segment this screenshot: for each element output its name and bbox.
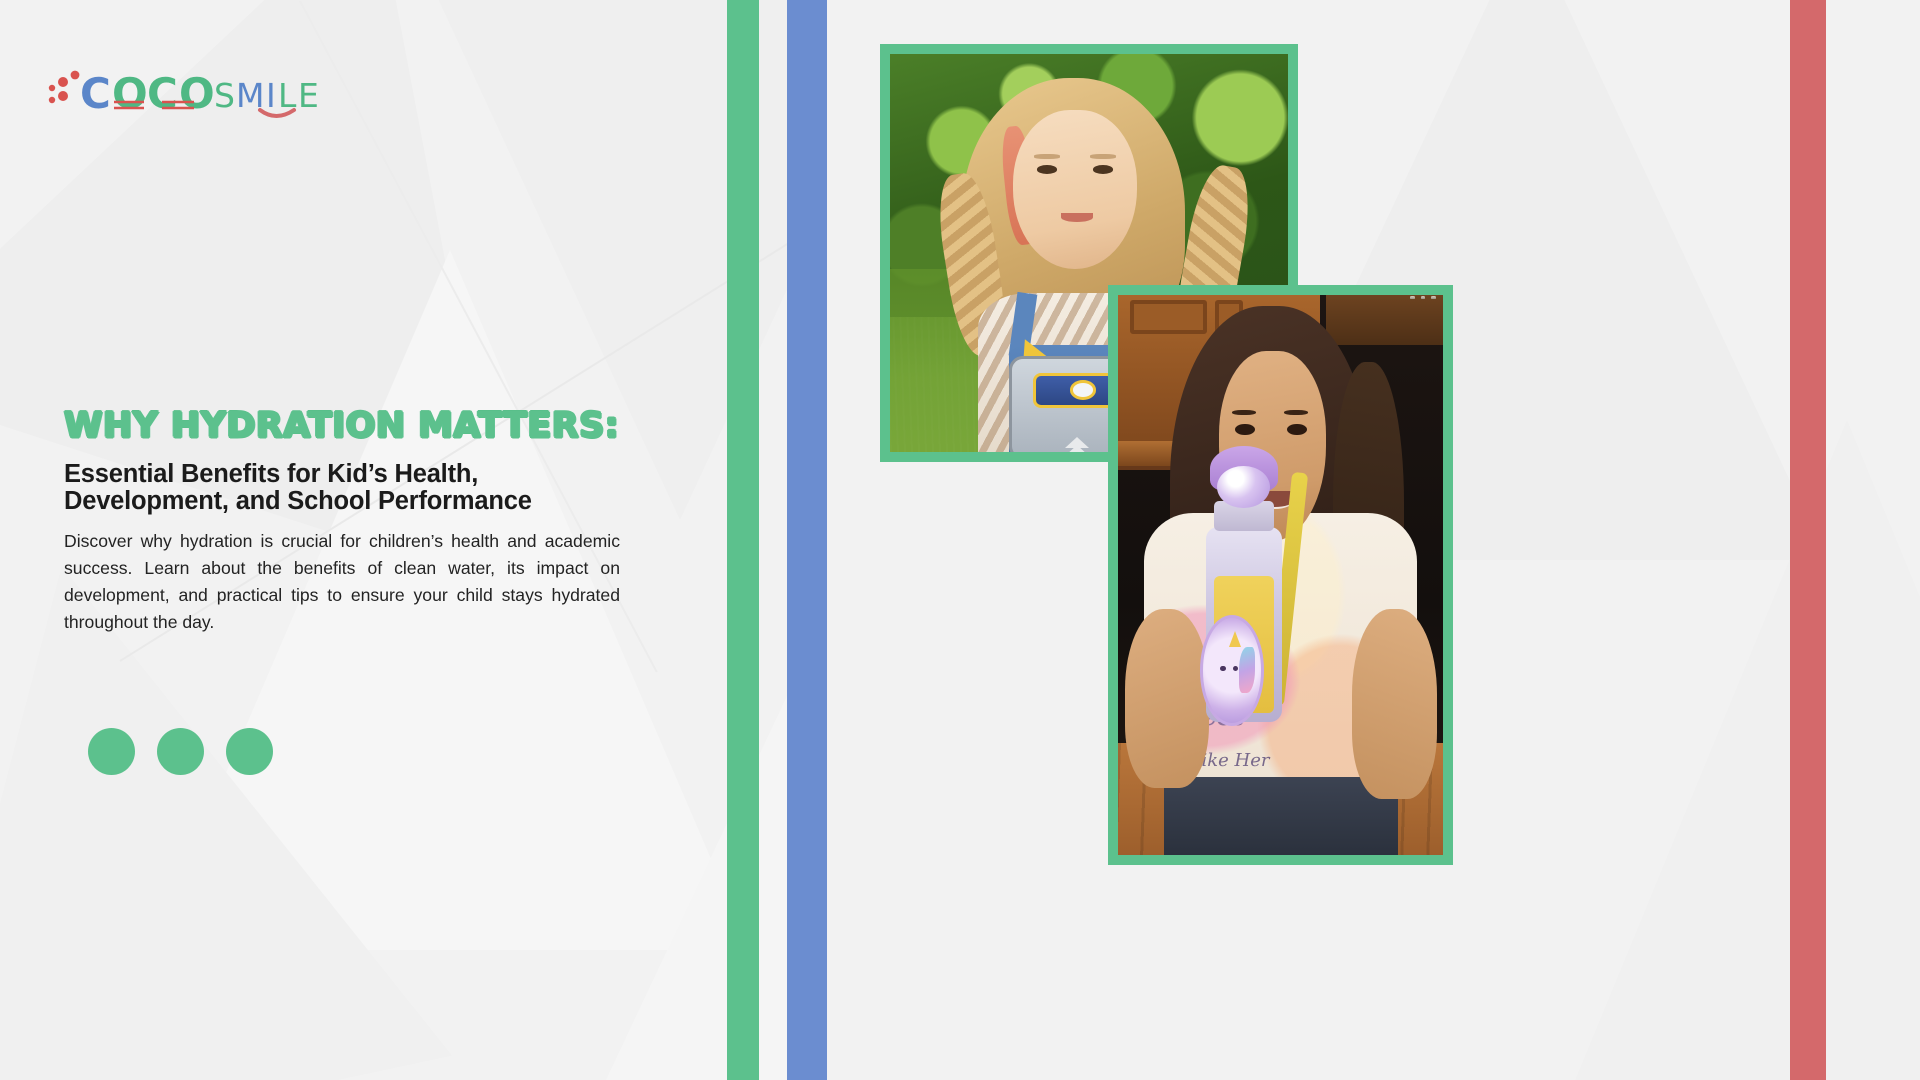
photo1-bottle-eye (1070, 380, 1097, 400)
photo2-unicorn-horn-icon (1229, 631, 1241, 647)
slide-canvas: C O C O S M I L E WHY HYDRATION MATTERS:… (0, 0, 1920, 1080)
photo1-eye-left (1037, 165, 1057, 173)
photo2-shelf (1326, 295, 1443, 345)
photo2-figurine-3 (1431, 296, 1436, 299)
photo2-pants (1164, 777, 1398, 855)
photo2-unicorn-water-bottle (1196, 446, 1294, 771)
photo2-eye-right (1287, 424, 1307, 435)
photo2-eye-left (1235, 424, 1255, 435)
page-subtitle: Essential Benefits for Kid’s Health, Dev… (64, 461, 624, 516)
photo2-figurine-1 (1410, 296, 1415, 299)
svg-text:O: O (112, 69, 146, 118)
stripe-red (1790, 0, 1826, 1080)
photo-background-triangle-2 (1567, 420, 1920, 1080)
svg-text:I: I (266, 76, 276, 115)
photo2-unicorn-mane (1239, 647, 1255, 693)
text-block: WHY HYDRATION MATTERS: Essential Benefit… (64, 408, 624, 636)
photo2-unicorn-eye-right (1233, 666, 1238, 671)
photo-girl-indoors-frame[interactable]: erfect Like Her (1108, 285, 1453, 865)
photo2-unicorn-charm-icon (1200, 615, 1264, 725)
decorative-dots-group (88, 728, 273, 775)
svg-text:C: C (147, 69, 176, 118)
photo2-cabinet-panel-1 (1130, 300, 1207, 334)
photo1-eyebrow-right (1090, 154, 1116, 158)
dot-3 (226, 728, 273, 775)
photo-girl-indoors: erfect Like Her (1118, 295, 1443, 855)
photo1-face (1013, 110, 1136, 269)
logo-dots-icon (49, 71, 80, 104)
dot-1 (88, 728, 135, 775)
svg-text:E: E (298, 76, 319, 115)
svg-text:C: C (80, 69, 109, 118)
svg-text:S: S (214, 76, 235, 115)
dot-2 (157, 728, 204, 775)
photo1-bottle-chevron-2-icon (1065, 445, 1089, 452)
photo2-unicorn-eye-left (1220, 666, 1225, 671)
stripe-green (727, 0, 759, 1080)
photo2-arm-right (1352, 609, 1437, 799)
cocosmile-logo[interactable]: C O C O S M I L E (44, 62, 344, 120)
photo2-figurine-2 (1421, 296, 1426, 299)
body-paragraph: Discover why hydration is crucial for ch… (64, 528, 620, 636)
photo1-eye-right (1093, 165, 1113, 173)
page-title: WHY HYDRATION MATTERS: (64, 408, 624, 445)
svg-text:O: O (179, 69, 213, 118)
page-subtitle-line-1: Essential Benefits for Kid’s Health, (64, 460, 478, 488)
photo1-eyebrow-left (1034, 154, 1060, 158)
stripe-blue (787, 0, 827, 1080)
page-subtitle-line-2: Development, and School Performance (64, 487, 532, 515)
photo2-bottle-bubble-lid (1217, 466, 1270, 508)
